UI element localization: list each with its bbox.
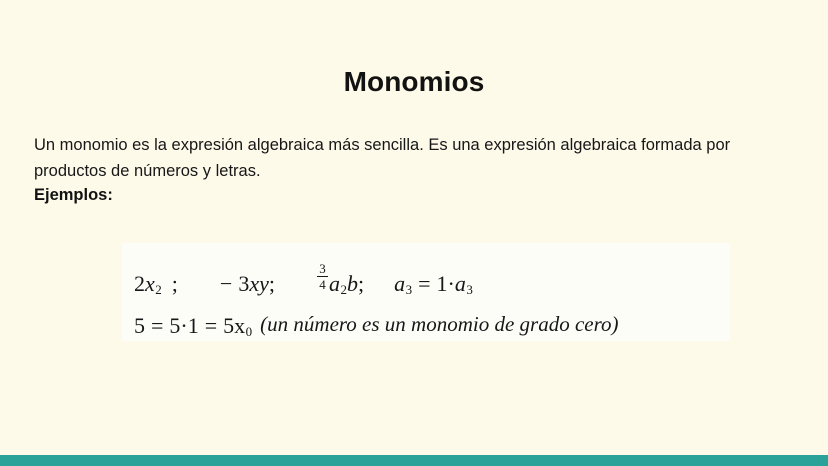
formula-row-2: 5=5·1=5x0 (un número es un monomio de gr… [134,295,730,337]
accent-bar-bottom [0,455,828,466]
grado-cero-note: (un número es un monomio de grado cero) [260,312,618,337]
equals-sign-2: = [205,315,217,337]
coefficient-3: 3 [238,273,249,295]
coefficient-2: 2 [134,273,145,295]
coefficient-1: 1 [437,273,448,295]
examples-label: Ejemplos: [34,186,113,205]
variable-a-right: a [455,273,466,295]
fraction-three-quarters: 3 4 [317,262,328,292]
minus-sign: − [220,273,232,295]
page-title: Monomios [0,67,828,98]
monomial-term-2x2: 2x2 [134,273,162,295]
fraction-denominator: 4 [317,278,328,292]
separator-semicolon-3: ; [358,273,364,295]
fraction-numerator: 3 [317,262,328,276]
five-x: 5x [223,315,245,337]
monomial-term-three-quarters-a2b: 3 4 a2b; [317,265,364,295]
multiplication-dot: · [448,273,455,295]
five-times-one: 5·1 [169,315,198,337]
formula-image-block: 2x2 ; −3xy; 3 4 a2b; a3=1·a3 [122,243,730,341]
equals-sign-1: = [151,315,163,337]
separator-semicolon-2: ; [269,273,275,295]
variables-xy: xy [249,273,269,295]
equation-five-equals-5x0: 5=5·1=5x0 [134,315,252,337]
equals-sign: = [418,273,430,295]
definition-paragraph: Un monomio es la expresión algebraica má… [34,132,794,184]
variable-b: b [347,273,358,295]
number-five: 5 [134,315,145,337]
equation-a3-equals-1a3: a3=1·a3 [394,273,473,295]
monomial-term-minus-3xy: −3xy; [220,273,275,295]
separator-semicolon-1: ; [172,273,178,295]
formula-row-1: 2x2 ; −3xy; 3 4 a2b; a3=1·a3 [134,251,730,295]
variable-a-left: a [394,273,405,295]
slide-canvas: Monomios Un monomio es la expresión alge… [0,0,828,466]
variable-a: a [329,273,340,295]
variable-x: x [145,273,155,295]
